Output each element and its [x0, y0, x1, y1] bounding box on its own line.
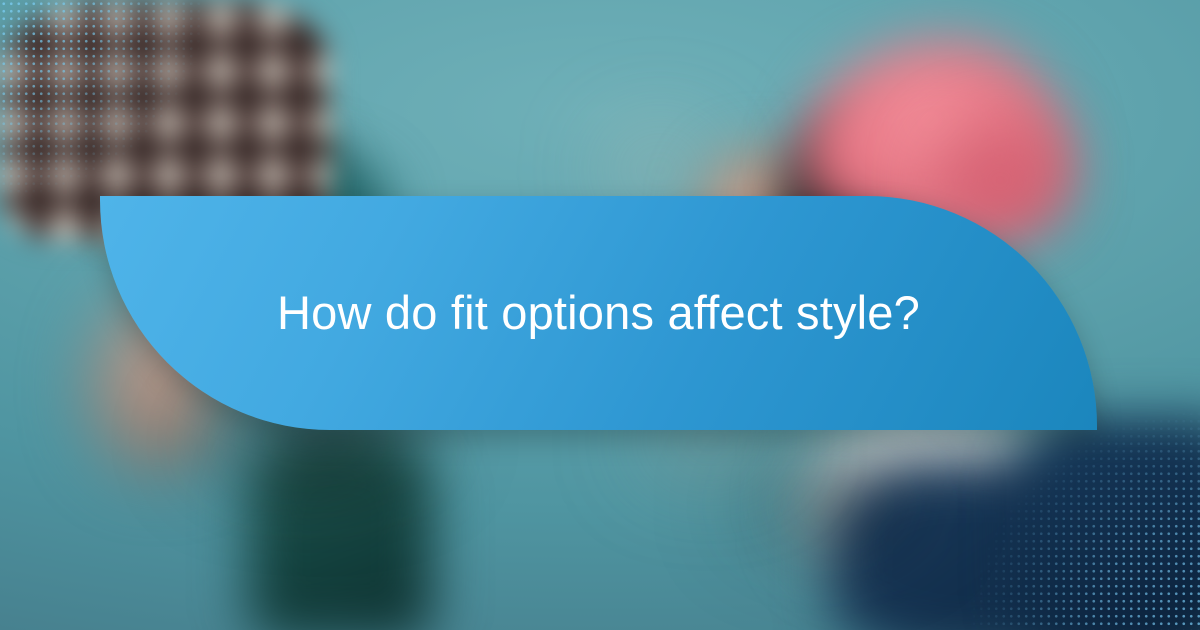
page-title: How do fit options affect style? [241, 287, 956, 339]
headline-banner: How do fit options affect style? [100, 196, 1097, 430]
right-person-denim-shape-2 [1020, 420, 1200, 630]
social-card: How do fit options affect style? [0, 0, 1200, 630]
